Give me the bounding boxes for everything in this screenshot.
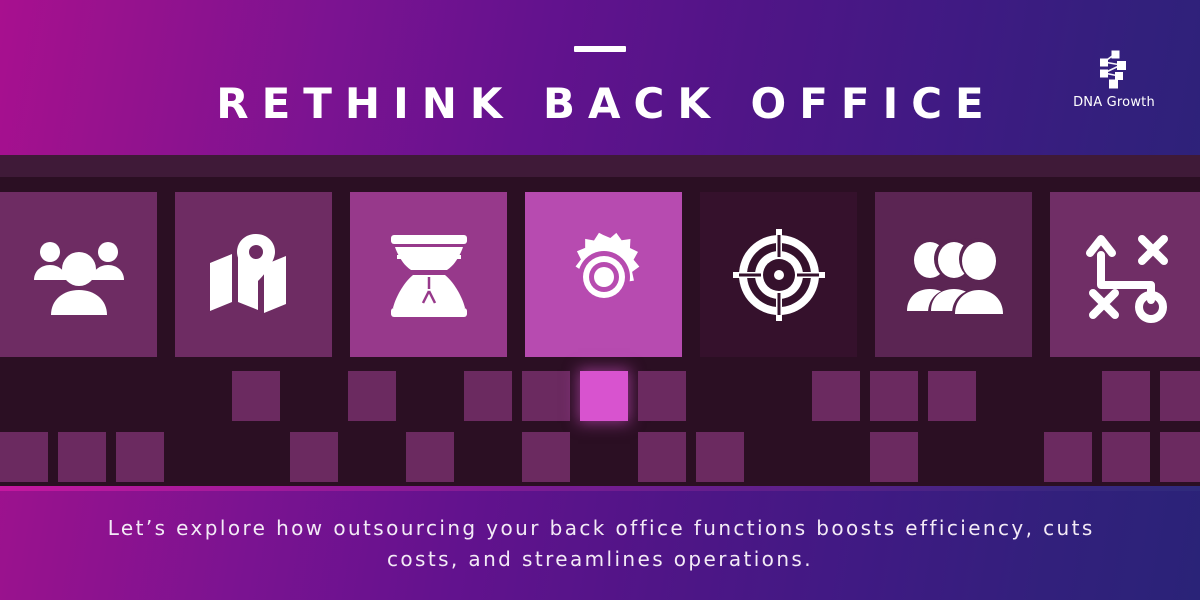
brand-name: DNA Growth	[1052, 95, 1176, 111]
mosaic-square	[348, 371, 396, 421]
dna-network-icon	[1091, 46, 1137, 92]
mosaic-square	[1102, 371, 1150, 421]
mosaic-square	[232, 371, 280, 421]
mosaic-square	[870, 432, 918, 482]
mosaic-square	[116, 432, 164, 482]
mosaic-square	[638, 371, 686, 421]
page-title: RETHINK BACK OFFICE	[0, 76, 1200, 132]
mosaic-square-highlight	[580, 371, 628, 421]
mosaic-band	[0, 155, 1200, 491]
mosaic-square	[522, 432, 570, 482]
mosaic-square	[58, 432, 106, 482]
mosaic-square	[1044, 432, 1092, 482]
header: RETHINK BACK OFFICE	[0, 0, 1200, 155]
subtitle-text: Let’s explore how outsourcing your back …	[100, 513, 1100, 575]
mosaic-square	[696, 432, 744, 482]
brand-logo: DNA Growth	[1052, 46, 1176, 111]
mosaic-square-grid	[0, 155, 1200, 491]
mosaic-square	[928, 371, 976, 421]
footer: Let’s explore how outsourcing your back …	[0, 491, 1200, 600]
mosaic-square	[522, 371, 570, 421]
mosaic-square	[812, 371, 860, 421]
title-divider	[574, 46, 626, 52]
mosaic-square	[1102, 432, 1150, 482]
mosaic-square	[638, 432, 686, 482]
mosaic-square	[464, 371, 512, 421]
mosaic-square	[0, 432, 48, 482]
mosaic-square	[1160, 371, 1200, 421]
mosaic-square	[870, 371, 918, 421]
mosaic-square	[406, 432, 454, 482]
mosaic-square	[290, 432, 338, 482]
poster-canvas: RETHINK BACK OFFICE	[0, 0, 1200, 600]
mosaic-square	[1160, 432, 1200, 482]
